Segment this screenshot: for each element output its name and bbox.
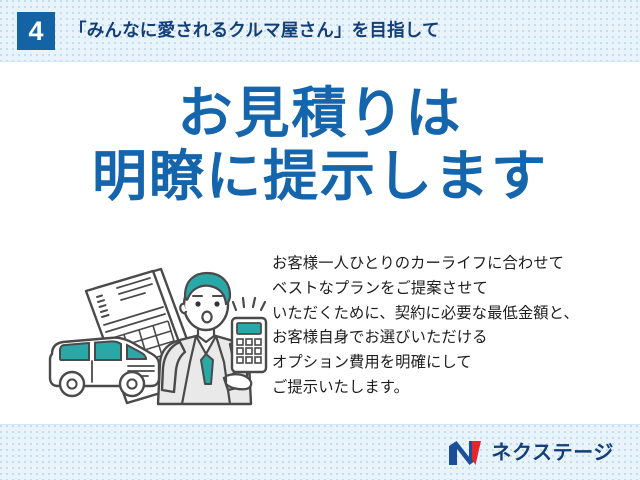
brand-lockup: ネクステージ [448,425,614,480]
header-content: 4 「みんなに愛されるクルマ屋さん」を目指して [17,0,630,62]
body-line: いただくために、契約に必要な最低金額と、 [272,302,632,327]
banner-header: 4 「みんなに愛されるクルマ屋さん」を目指して [0,0,640,62]
body-line: ベストなプランをご提案させて [272,277,632,302]
body-line: お客様一人ひとりのカーライフに合わせて [272,252,632,277]
promo-banner: 4 「みんなに愛されるクルマ屋さん」を目指して お見積りは 明瞭に提示します お… [0,0,640,480]
banner-body: お見積りは 明瞭に提示します お客様一人ひとりのカーライフに合わせて ベストなプ… [0,62,640,424]
sparkle-icon [233,298,265,310]
headline-line-2: 明瞭に提示します [0,145,640,208]
header-title: 「みんなに愛されるクルマ屋さん」を目指して [69,22,440,40]
brand-name: ネクステージ [491,443,614,463]
salesman-quote-illustration [40,250,272,422]
banner-footer: ネクステージ [0,424,640,480]
body-line: お客様自身でお選びいただける [272,326,632,351]
calculator-icon [232,298,266,372]
body-line: ご提示いたします。 [272,376,632,401]
body-paragraph: お客様一人ひとりのカーライフに合わせて ベストなプランをご提案させて いただくた… [272,252,632,401]
step-number-badge: 4 [17,12,55,50]
body-line: オプション費用を明確にして [272,351,632,376]
headline: お見積りは 明瞭に提示します [0,82,640,207]
nextage-logo-icon [448,440,482,466]
headline-line-1: お見積りは [0,82,640,145]
